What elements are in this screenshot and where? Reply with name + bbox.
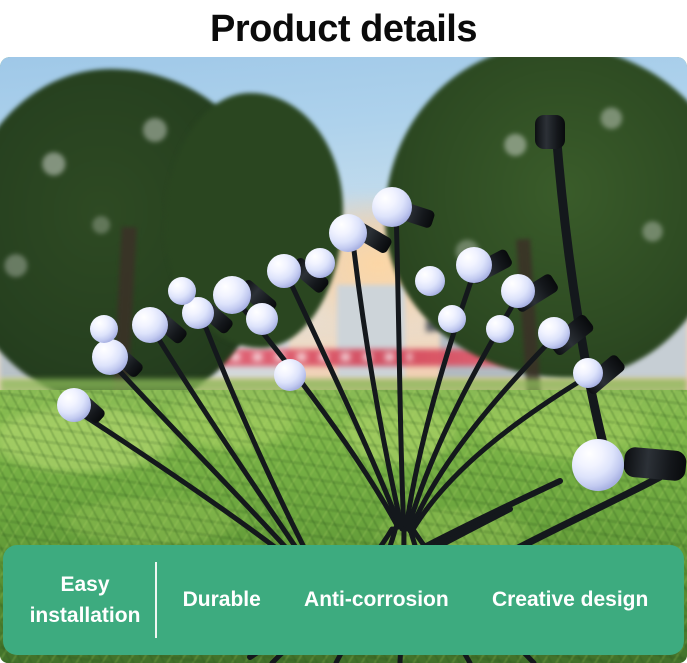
feature-banner: Easy installation Durable Anti-corrosion…	[3, 545, 684, 655]
feature-creative-design: Creative design	[492, 588, 648, 612]
feature-label-line1: Easy	[60, 569, 109, 601]
page-title: Product details	[210, 10, 477, 48]
feature-durable: Durable	[183, 588, 261, 612]
feature-anti-corrosion: Anti-corrosion	[304, 588, 449, 612]
feature-list: Durable Anti-corrosion Creative design	[157, 588, 674, 612]
page-title-bar: Product details	[0, 0, 687, 57]
feature-easy-installation: Easy installation	[17, 569, 153, 632]
feature-label-line2: installation	[30, 600, 141, 632]
product-details-page: Product details	[0, 0, 687, 663]
